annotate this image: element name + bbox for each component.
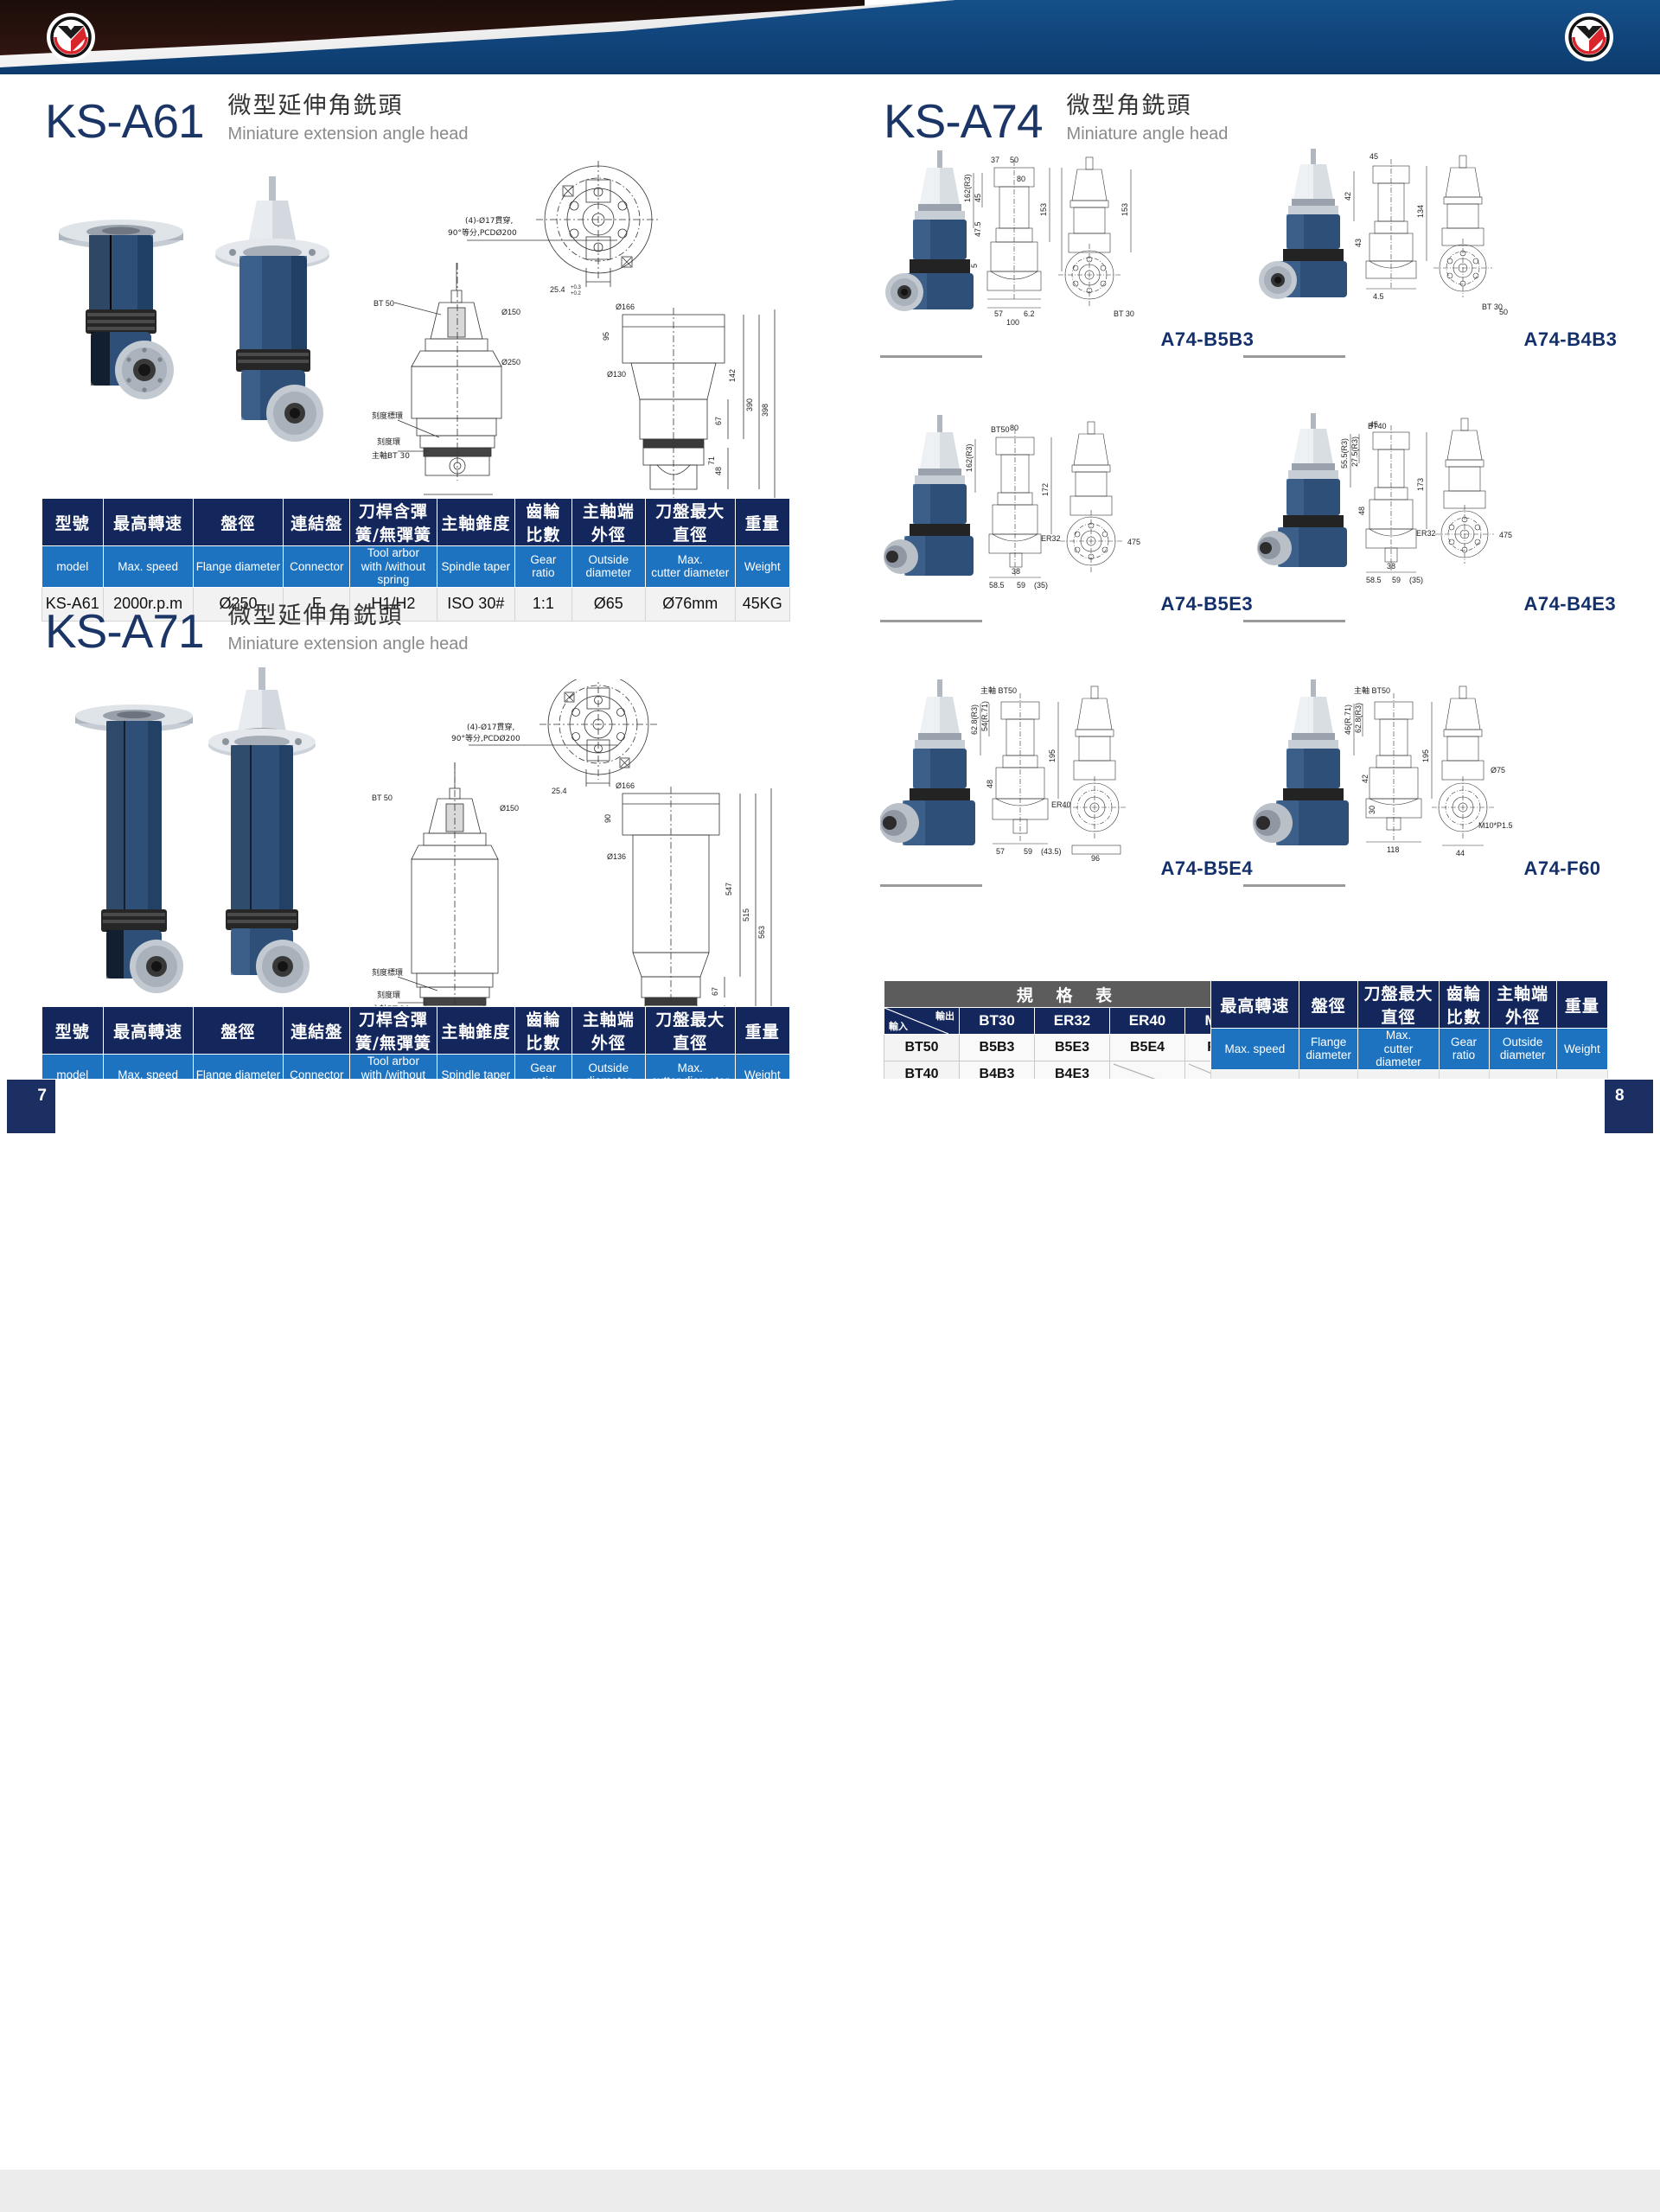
svg-text:BT40: BT40 — [1368, 422, 1387, 430]
svg-text:BT 50: BT 50 — [373, 299, 394, 308]
th-en-gear-ratio: Gear ratio — [1439, 1029, 1489, 1070]
cross-reference-table: 規 格 表 輸出 輸入 BT30 ER32 ER40 M10 BT50 B5B3… — [884, 980, 1254, 1088]
th-zh-max-speed: 最高轉速 — [1211, 981, 1299, 1029]
svg-text:398: 398 — [761, 404, 769, 417]
svg-text:M10*P1.5: M10*P1.5 — [1478, 821, 1513, 830]
svg-text:Ø250: Ø250 — [501, 358, 520, 367]
model-code-ks-a71: KS-A71 — [45, 608, 204, 655]
th-zh-outside-dia: 主軸端外徑 — [571, 1007, 645, 1055]
svg-text:ER32: ER32 — [1416, 529, 1436, 538]
svg-text:38: 38 — [1012, 567, 1020, 576]
svg-text:153: 153 — [1039, 203, 1048, 216]
svg-text:48: 48 — [714, 467, 723, 475]
svg-text:59: 59 — [1024, 847, 1032, 856]
svg-text:48: 48 — [1357, 507, 1366, 515]
svg-text:80: 80 — [1017, 175, 1025, 183]
th-en-max-cutter-dia: Max. cutter diameter — [645, 546, 735, 588]
svg-text:刻度環: 刻度環 — [377, 437, 400, 447]
th-zh-connector: 連結盤 — [284, 1007, 350, 1055]
svg-text:5: 5 — [970, 264, 979, 268]
cross-table-corner-cell: 輸出 輸入 — [884, 1008, 960, 1035]
variant-underline — [880, 620, 982, 622]
svg-text:134: 134 — [1416, 205, 1425, 218]
svg-text:195: 195 — [1421, 749, 1430, 762]
technical-drawing-ks-a61: (4)-Ø17貫穿, 90°等分,PCDØ200 25.4 +0.3 +0.2 — [372, 161, 804, 532]
th-zh-gear-ratio: 齒輪比數 — [515, 499, 572, 546]
svg-text:475: 475 — [1127, 538, 1140, 546]
svg-text:43: 43 — [1354, 239, 1363, 247]
section-title-en-ks-a74: Miniature angle head — [1067, 123, 1229, 145]
svg-text:62.8(R3): 62.8(R3) — [970, 704, 979, 735]
cross-row-header-bt50: BT50 — [884, 1035, 960, 1061]
section-title-ks-a61: KS-A61 微型延伸角銑頭 Miniature extension angle… — [45, 92, 469, 145]
svg-text:475: 475 — [1499, 531, 1512, 539]
th-en-gear-ratio: Gear ratio — [515, 546, 572, 588]
svg-text:+0.2: +0.2 — [571, 291, 582, 296]
table-header-row-zh: 型號 最高轉速 盤徑 連結盤 刀桿含彈簧/無彈簧 主軸錐度 齒輪比數 主軸端外徑… — [42, 1007, 790, 1055]
svg-text:46(R.71): 46(R.71) — [1344, 704, 1352, 735]
svg-text:50: 50 — [1499, 308, 1508, 316]
product-photo-ks-a61-front — [48, 152, 195, 450]
cross-cell-bt50-bt30: B5B3 — [960, 1035, 1035, 1061]
svg-text:Ø150: Ø150 — [501, 308, 520, 316]
svg-text:67: 67 — [714, 417, 723, 425]
th-zh-flange-dia: 盤徑 — [193, 499, 284, 546]
section-title-ks-a71: KS-A71 微型延伸角銑頭 Miniature extension angle… — [45, 602, 469, 655]
svg-text:BT50: BT50 — [991, 425, 1010, 434]
table-header-row-en: model Max. speed Flange diameter Connect… — [42, 546, 790, 588]
variant-a74-b5b3: 37 50 80 153 162(R3) 45 47.5 5 57 6.2 10… — [880, 147, 1254, 358]
svg-text:153: 153 — [1120, 203, 1129, 216]
svg-text:刻度環: 刻度環 — [377, 990, 400, 1000]
th-zh-flange-dia: 盤徑 — [193, 1007, 284, 1055]
th-en-weight: Weight — [735, 546, 790, 588]
svg-text:BT 30: BT 30 — [1114, 309, 1134, 318]
cell-gear-ratio: 1:1 — [515, 587, 572, 621]
svg-text:BT 50: BT 50 — [372, 794, 393, 802]
variant-label-a74-b4b3: A74-B4B3 — [1523, 328, 1617, 354]
cross-table-header-row: 輸出 輸入 BT30 ER32 ER40 M10 — [884, 1008, 1254, 1035]
svg-text:Ø130: Ø130 — [607, 370, 626, 379]
section-title-ks-a74: KS-A74 微型角銑頭 Miniature angle head — [884, 92, 1228, 145]
svg-text:59: 59 — [1017, 581, 1025, 590]
section-title-en-ks-a61: Miniature extension angle head — [228, 123, 469, 145]
svg-text:37: 37 — [991, 156, 999, 164]
th-zh-max-speed: 最高轉速 — [103, 1007, 193, 1055]
footer-gray-band — [0, 2170, 1660, 2212]
page-number-right: 8 — [1605, 1080, 1653, 1133]
cell-weight: 45KG — [735, 587, 790, 621]
svg-text:主軸 BT50: 主軸 BT50 — [1354, 685, 1390, 695]
technical-drawing-ks-a71: (4)-Ø17貫穿, 90°等分,PCDØ200 25.4 — [372, 679, 804, 1051]
product-photo-ks-a71-front — [65, 671, 203, 1038]
svg-text:90°等分,PCDØ200: 90°等分,PCDØ200 — [448, 227, 517, 238]
variant-label-a74-f60: A74-F60 — [1523, 857, 1600, 883]
svg-text:563: 563 — [757, 926, 766, 939]
variant-a74-b5e3: 80 162(R3) 172 38 58.5 59 (35) ER32 BT50 — [880, 411, 1253, 622]
th-en-connector: Connector — [284, 546, 350, 588]
th-zh-model: 型號 — [42, 1007, 104, 1055]
th-zh-gear-ratio: 齒輪比數 — [515, 1007, 572, 1055]
svg-text:118: 118 — [1387, 845, 1399, 854]
th-en-tool-arbor: Tool arbor with /without spring — [350, 546, 437, 588]
th-zh-gear-ratio: 齒輪比數 — [1439, 981, 1489, 1029]
th-zh-spindle-taper: 主軸錐度 — [437, 499, 514, 546]
th-zh-flange-dia: 盤徑 — [1299, 981, 1358, 1029]
th-zh-max-speed: 最高轉速 — [103, 499, 193, 546]
svg-text:27.5(R3): 27.5(R3) — [1350, 437, 1359, 467]
page-footer — [0, 1079, 1660, 1133]
th-zh-outside-dia: 主軸端外徑 — [1489, 981, 1556, 1029]
corner-output-label: 輸出 — [935, 1009, 954, 1023]
variant-a74-f60: 主軸 BT50 46(R.71) 62.8(R3) 42 30 195 118 — [1243, 676, 1601, 887]
svg-text:主軸 BT50: 主軸 BT50 — [980, 685, 1017, 695]
th-en-outside-dia: Outside diameter — [1489, 1029, 1556, 1070]
svg-text:主軸BT 30: 主軸BT 30 — [372, 450, 410, 461]
variant-underline — [880, 355, 982, 358]
th-en-spindle-taper: Spindle taper — [437, 546, 514, 588]
brand-logo-icon-secondary — [1567, 15, 1612, 60]
cross-table-title: 規 格 表 — [884, 981, 1254, 1008]
th-zh-weight: 重量 — [735, 1007, 790, 1055]
th-zh-spindle-taper: 主軸錐度 — [437, 1007, 514, 1055]
th-zh-weight: 重量 — [1556, 981, 1607, 1029]
cross-col-er40: ER40 — [1110, 1008, 1185, 1035]
svg-text:390: 390 — [745, 398, 754, 411]
variant-label-a74-b5e3: A74-B5E3 — [1160, 593, 1253, 619]
variant-underline — [1243, 620, 1345, 622]
variant-label-a74-b5e4: A74-B5E4 — [1160, 857, 1253, 883]
svg-text:Ø150: Ø150 — [500, 804, 519, 813]
svg-text:47.5: 47.5 — [974, 221, 982, 237]
svg-text:59: 59 — [1392, 576, 1401, 584]
svg-text:55.5(R3): 55.5(R3) — [1340, 438, 1349, 469]
product-photo-ks-a71-angled — [186, 662, 342, 1047]
variant-label-a74-b5b3: A74-B5B3 — [1160, 328, 1254, 354]
cross-col-bt30: BT30 — [960, 1008, 1035, 1035]
variant-underline — [1243, 355, 1345, 358]
variant-a74-b5e4: 主軸 BT50 62.8(R3) 54(R.71) 48 195 ER40 57… — [880, 676, 1253, 887]
svg-text:162(R3): 162(R3) — [963, 174, 972, 202]
svg-text:96: 96 — [1091, 854, 1100, 863]
svg-text:(43.5): (43.5) — [1041, 847, 1062, 856]
svg-text:142: 142 — [728, 369, 737, 382]
model-code-ks-a74: KS-A74 — [884, 98, 1043, 145]
svg-text:71: 71 — [707, 456, 716, 465]
svg-text:ER32: ER32 — [1041, 534, 1061, 543]
th-zh-tool-arbor: 刀桿含彈簧/無彈簧 — [350, 1007, 437, 1055]
th-zh-max-cutter-dia: 刀盤最大直徑 — [645, 1007, 735, 1055]
table-header-row-zh: 型號 最高轉速 盤徑 連結盤 刀桿含彈簧/無彈簧 主軸錐度 齒輪比數 主軸端外徑… — [42, 499, 790, 546]
svg-text:48: 48 — [986, 780, 994, 788]
svg-text:515: 515 — [742, 908, 750, 921]
section-title-zh-ks-a61: 微型延伸角銑頭 — [228, 92, 469, 121]
svg-text:4.5: 4.5 — [1373, 292, 1384, 301]
svg-text:Ø136: Ø136 — [607, 852, 626, 861]
product-photo-ks-a61-angled — [195, 169, 354, 476]
th-zh-model: 型號 — [42, 499, 104, 546]
svg-text:95: 95 — [602, 332, 610, 341]
svg-text:58.5: 58.5 — [989, 581, 1005, 590]
variant-underline — [880, 884, 982, 887]
svg-text:547: 547 — [725, 883, 733, 896]
section-title-zh-ks-a74: 微型角銑頭 — [1067, 92, 1229, 121]
svg-text:38: 38 — [1387, 562, 1395, 571]
svg-text:25.4: 25.4 — [552, 787, 567, 795]
svg-text:172: 172 — [1041, 483, 1050, 496]
svg-text:6.2: 6.2 — [1024, 309, 1035, 318]
cell-outside-dia: Ø65 — [571, 587, 645, 621]
svg-text:100: 100 — [1006, 318, 1019, 327]
cross-col-er32: ER32 — [1035, 1008, 1110, 1035]
svg-text:57: 57 — [996, 847, 1005, 856]
svg-text:Ø166: Ø166 — [616, 303, 635, 311]
th-zh-max-cutter-dia: 刀盤最大直徑 — [1358, 981, 1439, 1029]
svg-text:57: 57 — [994, 309, 1003, 318]
svg-text:Ø166: Ø166 — [616, 781, 635, 790]
table-header-row-en: Max. speed Flange diameter Max. cutter d… — [1211, 1029, 1608, 1070]
section-title-zh-ks-a71: 微型延伸角銑頭 — [228, 602, 469, 631]
cross-cell-bt50-er40: B5E4 — [1110, 1035, 1185, 1061]
svg-text:30: 30 — [1368, 806, 1376, 814]
variant-underline — [1243, 884, 1345, 887]
th-en-outside-dia: Outside diameter — [571, 546, 645, 588]
variant-label-a74-b4e3: A74-B4E3 — [1523, 593, 1616, 619]
right-page: KS-A74 微型角銑頭 Miniature angle head — [830, 74, 1660, 1064]
section-title-en-ks-a71: Miniature extension angle head — [228, 633, 469, 655]
page-number-left: 7 — [7, 1080, 55, 1133]
svg-text:80: 80 — [1010, 424, 1018, 432]
svg-text:刻度標環: 刻度標環 — [372, 967, 403, 978]
svg-text:67: 67 — [711, 987, 719, 996]
svg-text:ER40: ER40 — [1051, 800, 1071, 809]
th-zh-weight: 重量 — [735, 499, 790, 546]
svg-text:45: 45 — [974, 194, 982, 202]
cross-cell-bt50-er32: B5E3 — [1035, 1035, 1110, 1061]
svg-text:90°等分,PCDØ200: 90°等分,PCDØ200 — [451, 733, 520, 743]
th-en-max-cutter-dia: Max. cutter diameter — [1358, 1029, 1439, 1070]
model-code-ks-a61: KS-A61 — [45, 98, 204, 145]
svg-text:25.4: 25.4 — [550, 285, 565, 294]
th-en-max-speed: Max. speed — [103, 546, 193, 588]
variant-a74-b4b3: 45 134 42 43 4.5 BT 30 5 — [1243, 147, 1617, 358]
svg-text:195: 195 — [1048, 749, 1057, 762]
svg-text:Ø75: Ø75 — [1491, 766, 1505, 775]
page-banner — [0, 0, 1660, 74]
th-en-weight: Weight — [1556, 1029, 1607, 1070]
svg-text:刻度標環: 刻度標環 — [372, 411, 403, 421]
svg-text:162(R3): 162(R3) — [965, 443, 974, 472]
svg-text:(35): (35) — [1034, 581, 1048, 590]
svg-text:(35): (35) — [1409, 576, 1423, 584]
th-zh-outside-dia: 主軸端外徑 — [571, 499, 645, 546]
svg-text:42: 42 — [1344, 192, 1352, 201]
svg-text:(4)-Ø17貫穿,: (4)-Ø17貫穿, — [467, 722, 514, 732]
left-page: KS-A61 微型延伸角銑頭 Miniature extension angle… — [0, 74, 830, 1064]
svg-text:54(R.71): 54(R.71) — [980, 701, 989, 731]
svg-text:62.8(R3): 62.8(R3) — [1354, 703, 1363, 733]
svg-text:(4)-Ø17貫穿,: (4)-Ø17貫穿, — [465, 215, 513, 226]
th-en-flange-dia: Flange diameter — [1299, 1029, 1358, 1070]
corner-input-label: 輸入 — [889, 1019, 908, 1033]
th-en-flange-dia: Flange diameter — [193, 546, 284, 588]
th-en-model: model — [42, 546, 104, 588]
svg-text:42: 42 — [1361, 775, 1369, 783]
svg-text:44: 44 — [1456, 849, 1465, 857]
th-zh-max-cutter-dia: 刀盤最大直徑 — [645, 499, 735, 546]
svg-text:90: 90 — [603, 814, 612, 823]
th-zh-tool-arbor: 刀桿含彈簧/無彈簧 — [350, 499, 437, 546]
svg-text:50: 50 — [1010, 156, 1018, 164]
svg-text:173: 173 — [1416, 478, 1425, 491]
variant-a74-b4e3: 45 55.5(R3) 27.5(R3) 48 173 38 58.5 59 (… — [1243, 411, 1616, 622]
cross-table-title-row: 規 格 表 — [884, 981, 1254, 1008]
cell-max-cutter-dia: Ø76mm — [645, 587, 735, 621]
th-zh-connector: 連結盤 — [284, 499, 350, 546]
brand-logo-icon — [48, 15, 93, 60]
th-en-max-speed: Max. speed — [1211, 1029, 1299, 1070]
svg-text:58.5: 58.5 — [1366, 576, 1382, 584]
table-header-row-zh: 最高轉速 盤徑 刀盤最大直徑 齒輪比數 主軸端外徑 重量 — [1211, 981, 1608, 1029]
svg-text:45: 45 — [1369, 152, 1378, 161]
svg-text:+0.3: +0.3 — [571, 285, 582, 290]
cross-table-row-bt50: BT50 B5B3 B5E3 B5E4 F60 — [884, 1035, 1254, 1061]
